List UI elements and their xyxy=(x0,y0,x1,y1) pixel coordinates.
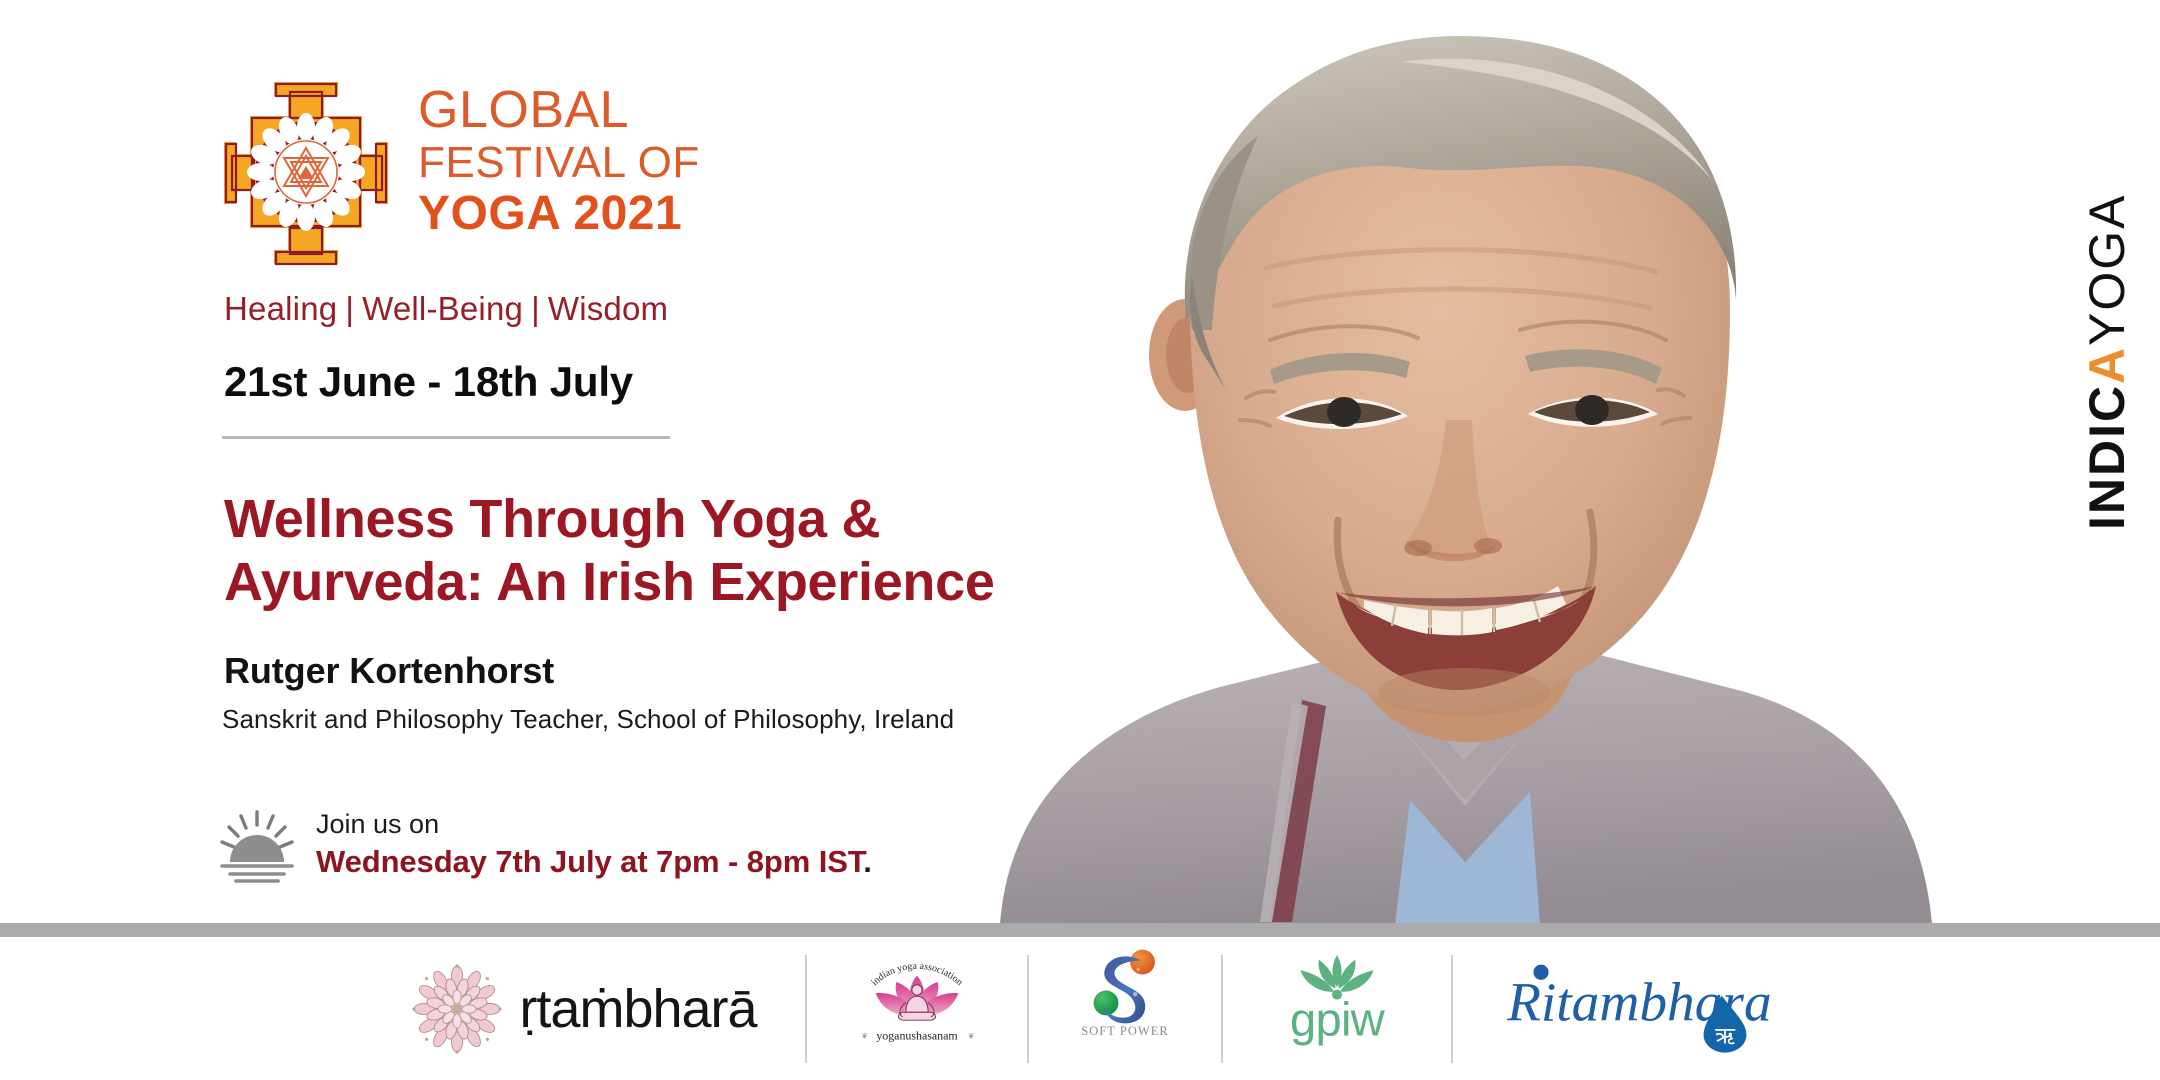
gpiw-wordmark: gpiw xyxy=(1290,992,1386,1045)
partner-logo-row: ṛtaṁbharā indian y xyxy=(385,949,1774,1069)
section-divider-bar xyxy=(0,923,2160,937)
indica-yoga-wordmark: INDICAYOGA xyxy=(2082,70,2132,530)
devanagari-rri-glyph: ऋ xyxy=(1715,1022,1736,1049)
festival-dates: 21st June - 18th July xyxy=(224,358,633,406)
footer-divider-3 xyxy=(1221,955,1223,1063)
event-poster: GLOBAL FESTIVAL OF YOGA 2021 Healing|Wel… xyxy=(0,0,2160,1080)
yoga-word: YOGA xyxy=(2082,193,2132,345)
partner-logo-gpiw[interactable]: gpiw xyxy=(1245,949,1429,1069)
partner-logo-soft-power[interactable]: SOFT POWER xyxy=(1051,949,1199,1069)
sri-yantra-icon xyxy=(222,78,390,268)
join-datetime-line: Wednesday 7th July at 7pm - 8pm IST. xyxy=(316,842,872,882)
speaker-role: Sanskrit and Philosophy Teacher, School … xyxy=(222,704,954,735)
indica-a-letter: A xyxy=(2082,346,2132,384)
lotus-meditation-icon: indian yoga association xyxy=(829,947,1005,1071)
tagline-healing: Healing xyxy=(224,290,337,327)
rtambhara-wordmark: ṛtaṁbharā xyxy=(519,978,756,1040)
partner-logo-rtambhara[interactable]: ṛtaṁbharā xyxy=(385,949,782,1069)
festival-branding: GLOBAL FESTIVAL OF YOGA 2021 xyxy=(222,78,700,268)
sunrise-icon xyxy=(218,808,296,886)
mandala-icon xyxy=(411,963,503,1055)
tagline-wellbeing: Well-Being xyxy=(362,290,523,327)
festival-tagline: Healing|Well-Being|Wisdom xyxy=(224,290,668,328)
lotus-leaves-icon: gpiw xyxy=(1245,949,1429,1069)
footer-divider-2 xyxy=(1027,955,1029,1063)
partner-logo-indian-yoga-association[interactable]: indian yoga association xyxy=(829,949,1005,1069)
partner-logo-ritambhara[interactable]: Ritambhara ऋ xyxy=(1475,949,1775,1069)
svg-text:❦: ❦ xyxy=(861,1031,868,1040)
footer-divider-4 xyxy=(1451,955,1453,1063)
indica-word: INDIC xyxy=(2082,384,2132,530)
join-text-block: Join us on Wednesday 7th July at 7pm - 8… xyxy=(316,808,872,886)
iya-subtext: yoganushasanam xyxy=(876,1028,958,1042)
svg-text:❦: ❦ xyxy=(967,1031,974,1040)
s-monogram-icon: SOFT POWER xyxy=(1051,946,1199,1072)
tagline-separator-1: | xyxy=(337,290,362,327)
join-label: Join us on xyxy=(316,808,872,842)
speaker-name: Rutger Kortenhorst xyxy=(224,650,554,692)
festival-name-line2: FESTIVAL OF xyxy=(418,141,700,186)
join-datetime-period: . xyxy=(863,844,872,879)
tagline-wisdom: Wisdom xyxy=(548,290,668,327)
festival-wordmark: GLOBAL FESTIVAL OF YOGA 2021 xyxy=(418,78,700,239)
festival-name-line3: YOGA 2021 xyxy=(418,190,700,239)
partner-logo-footer: ṛtaṁbharā indian y xyxy=(0,937,2160,1080)
footer-divider-1 xyxy=(805,955,807,1063)
join-datetime: Wednesday 7th July at 7pm - 8pm IST xyxy=(316,844,863,879)
tagline-separator-2: | xyxy=(523,290,548,327)
soft-power-wordmark: SOFT POWER xyxy=(1081,1024,1168,1038)
join-details: Join us on Wednesday 7th July at 7pm - 8… xyxy=(218,808,872,886)
water-drop-rri-icon: Ritambhara ऋ xyxy=(1475,949,1775,1069)
festival-name-line1: GLOBAL xyxy=(418,84,700,137)
horizontal-divider xyxy=(222,436,670,439)
speaker-photo xyxy=(940,0,2060,924)
